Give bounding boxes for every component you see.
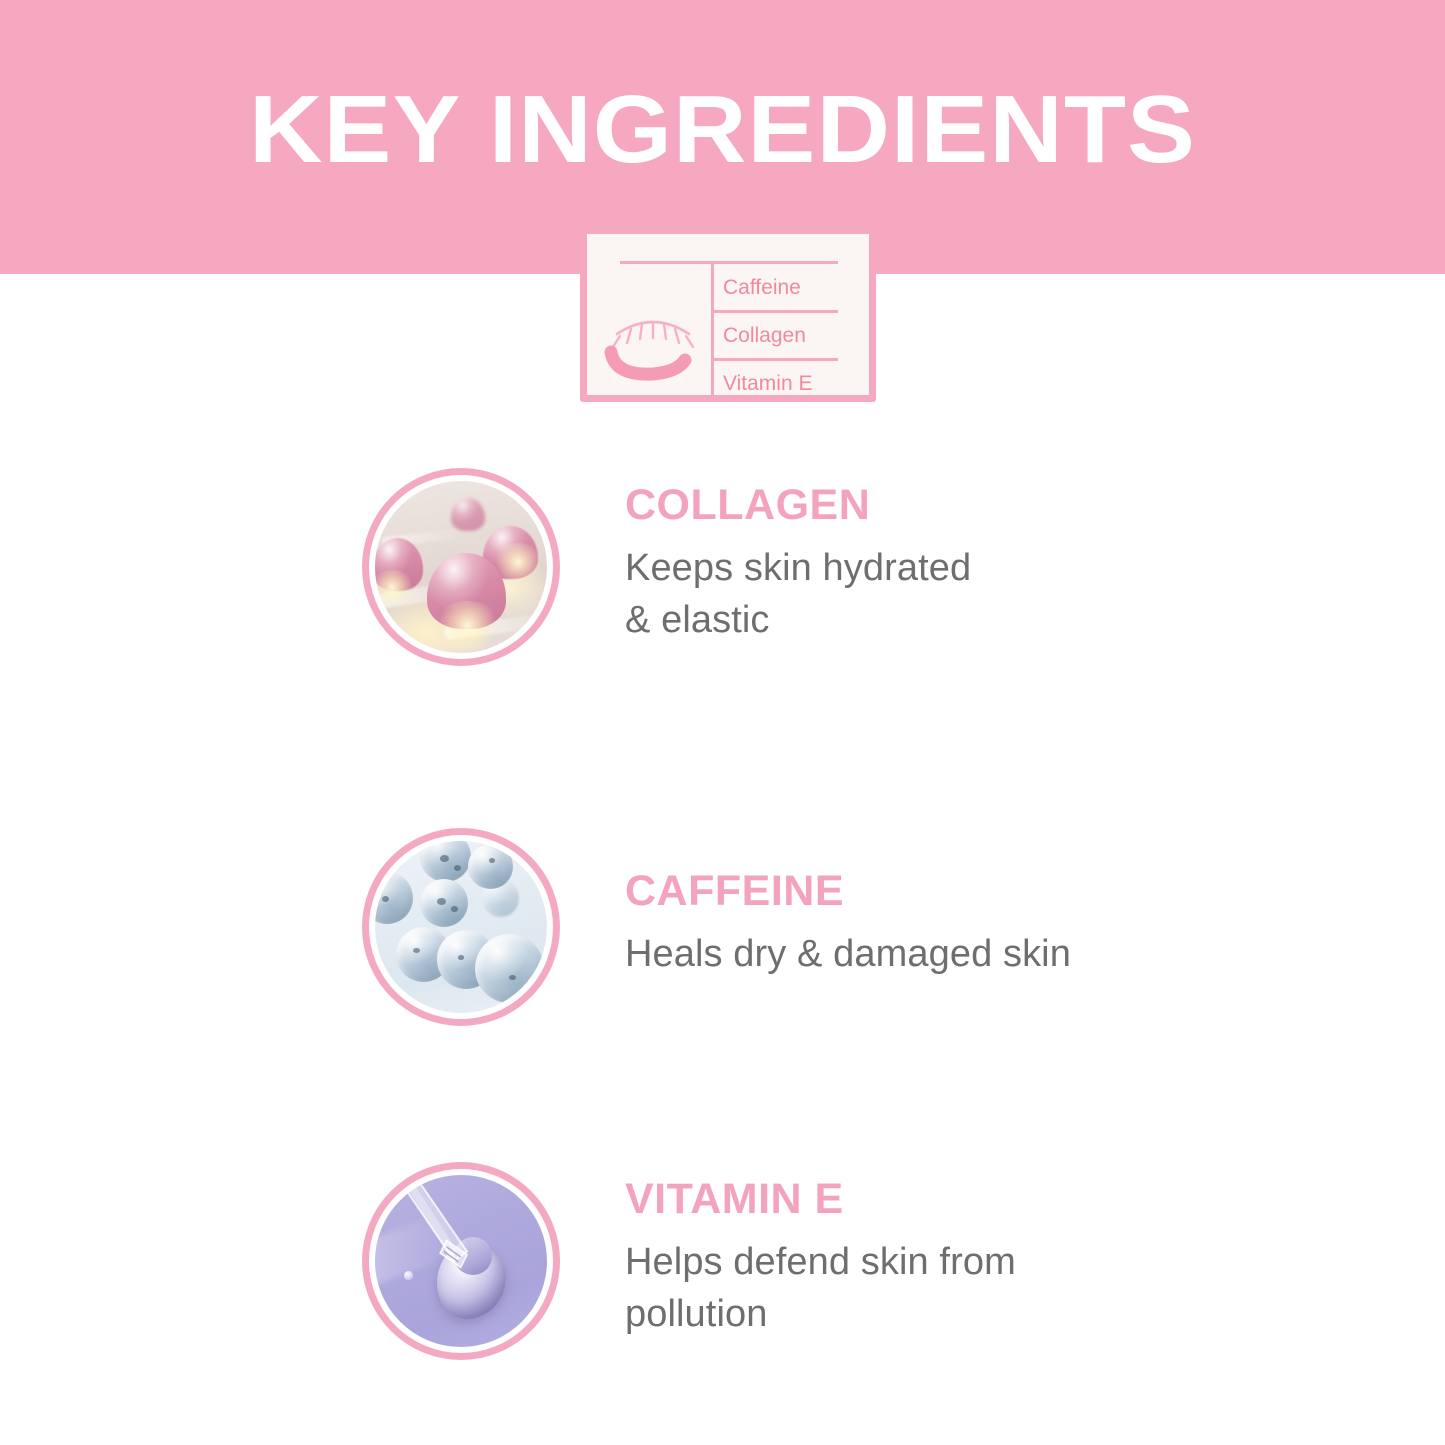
vitamin-e-dropper-image <box>375 1175 547 1347</box>
card-label-vitamin-e: Vitamin E <box>723 372 813 396</box>
product-card: Caffeine Collagen Vitamin E <box>580 227 876 402</box>
bubble-speck <box>458 955 465 960</box>
collagen-thumbnail <box>362 468 560 666</box>
ingredient-description-caffeine: Heals dry & damaged skin <box>625 928 1265 980</box>
ingredient-name-caffeine: CAFFEINE <box>625 866 1265 916</box>
card-row-divider-1 <box>711 310 838 313</box>
vitamin-e-thumbnail <box>362 1162 560 1360</box>
card-label-caffeine: Caffeine <box>723 276 801 300</box>
bubble <box>475 934 544 1003</box>
ingredient-row-collagen: COLLAGEN Keeps skin hydrated& elastic <box>0 468 1445 668</box>
key-ingredients-infographic: KEY INGREDIENTS Caffeine Collagen <box>0 0 1445 1445</box>
bubble-speck <box>413 948 420 953</box>
bubble-speck <box>382 896 389 902</box>
caffeine-bubbles-image <box>375 841 547 1013</box>
ingredient-row-caffeine: CAFFEINE Heals dry & damaged skin <box>0 828 1445 1028</box>
product-card-inner: Caffeine Collagen Vitamin E <box>587 234 869 395</box>
caffeine-text-block: CAFFEINE Heals dry & damaged skin <box>625 866 1265 980</box>
bubble-speck <box>440 855 449 862</box>
ingredient-name-collagen: COLLAGEN <box>625 480 1265 530</box>
bubble <box>375 872 413 924</box>
micro-droplet <box>404 1271 413 1280</box>
bubble <box>468 844 513 889</box>
closed-eye-icon <box>601 290 705 386</box>
card-vertical-divider <box>711 261 714 395</box>
ingredient-description-collagen: Keeps skin hydrated& elastic <box>625 542 1265 646</box>
ingredient-description-vitamin-e: Helps defend skin frompollution <box>625 1236 1265 1340</box>
dropper-pipette-icon <box>399 1178 478 1274</box>
collagen-text-block: COLLAGEN Keeps skin hydrated& elastic <box>625 480 1265 646</box>
bubble-speck <box>437 898 446 905</box>
bubble-speck <box>451 906 458 911</box>
card-row-divider-2 <box>711 358 838 361</box>
caffeine-thumbnail <box>362 828 560 1026</box>
collagen-pearls-image <box>375 481 547 653</box>
page-title: KEY INGREDIENTS <box>0 78 1445 182</box>
vitamin-e-text-block: VITAMIN E Helps defend skin frompollutio… <box>625 1174 1265 1340</box>
card-label-collagen: Collagen <box>723 324 806 348</box>
card-top-divider <box>620 261 838 264</box>
bubble <box>420 841 472 882</box>
light-glow <box>433 601 502 649</box>
ingredient-name-vitamin-e: VITAMIN E <box>625 1174 1265 1224</box>
pearl-back <box>451 498 485 531</box>
ingredient-row-vitamin-e: VITAMIN E Helps defend skin frompollutio… <box>0 1162 1445 1362</box>
